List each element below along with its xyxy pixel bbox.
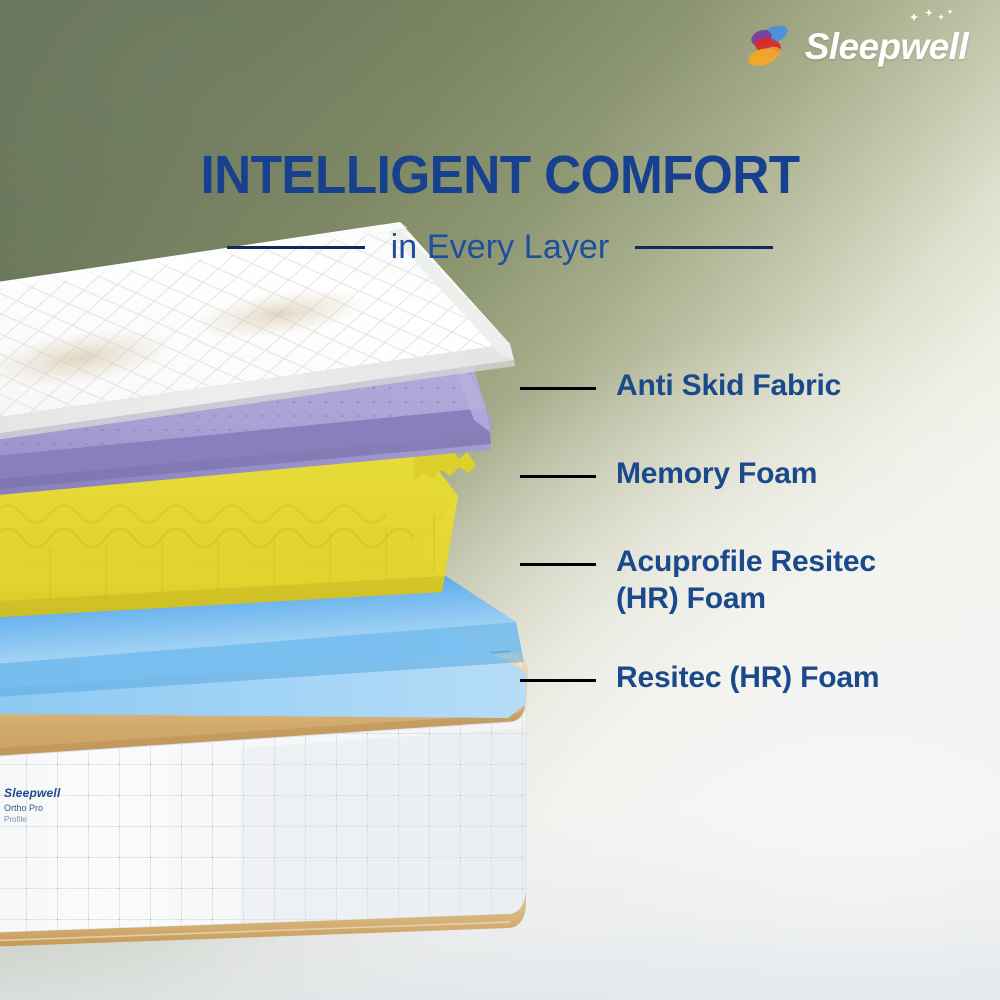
callout-label: Anti Skid Fabric bbox=[616, 368, 841, 405]
callout-label: Memory Foam bbox=[616, 456, 817, 493]
product-side-label: Sleepwell Ortho Pro Profile bbox=[4, 786, 61, 825]
callout-label: Resitec (HR) Foam bbox=[616, 660, 879, 697]
page-title: INTELLIGENT COMFORT bbox=[25, 148, 975, 203]
logo-stars-icon bbox=[902, 7, 962, 25]
subtitle-rule-left bbox=[227, 246, 365, 249]
mattress-layer-stack bbox=[0, 300, 530, 960]
callout-memory-foam: Memory Foam bbox=[520, 456, 817, 493]
side-label-variant: Profile bbox=[4, 815, 61, 825]
side-label-brand: Sleepwell bbox=[4, 786, 61, 801]
leader-line-icon bbox=[520, 563, 596, 566]
page-subtitle: in Every Layer bbox=[391, 228, 610, 267]
callout-acuprofile-resitec-hr-foam: Acuprofile Resitec (HR) Foam bbox=[520, 544, 946, 617]
poster-canvas: Sleepwell INTELLIGENT COMFORT in Every L… bbox=[0, 0, 1000, 1000]
leader-line-icon bbox=[520, 679, 596, 682]
callout-resitec-hr-foam: Resitec (HR) Foam bbox=[520, 660, 879, 697]
leader-line-icon bbox=[520, 475, 596, 478]
subtitle-rule-right bbox=[635, 246, 773, 249]
callout-label: Acuprofile Resitec (HR) Foam bbox=[616, 544, 946, 617]
side-label-model: Ortho Pro bbox=[4, 803, 61, 814]
subtitle-row: in Every Layer bbox=[0, 228, 1000, 267]
callout-anti-skid-fabric: Anti Skid Fabric bbox=[520, 368, 841, 405]
sleepwell-wordmark: Sleepwell bbox=[805, 28, 968, 65]
leader-line-icon bbox=[520, 387, 596, 390]
sleepwell-logo[interactable]: Sleepwell bbox=[742, 20, 968, 72]
sleepwell-s-mark-icon bbox=[742, 20, 794, 72]
